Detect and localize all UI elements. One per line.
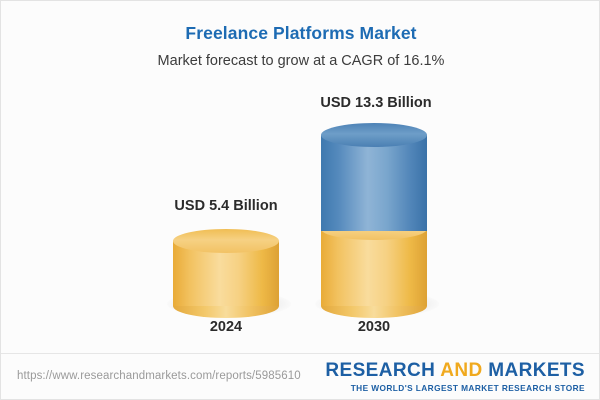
bar-chart: USD 5.4 Billion 2024 USD 13.3 Billion: [1, 1, 600, 353]
logo-wordmark: RESEARCH AND MARKETS: [325, 361, 585, 381]
cylinder-base-segment-2030: [321, 229, 427, 306]
bar-value-label-2024: USD 5.4 Billion: [116, 198, 336, 214]
logo-tagline: THE WORLD'S LARGEST MARKET RESEARCH STOR…: [325, 383, 585, 393]
logo-word-markets: MARKETS: [483, 360, 585, 381]
logo-word-and: AND: [440, 360, 482, 381]
bar-value-label-2030: USD 13.3 Billion: [266, 95, 486, 111]
bar-cylinder-2030: [321, 123, 427, 306]
footer-divider: [1, 353, 600, 354]
bar-cylinder-2024: [173, 229, 279, 306]
cylinder-growth-top-ellipse-2030: [321, 123, 427, 147]
research-and-markets-logo[interactable]: RESEARCH AND MARKETS THE WORLD'S LARGEST…: [325, 361, 585, 393]
cylinder-growth-segment-2030: [321, 135, 427, 231]
report-url[interactable]: https://www.researchandmarkets.com/repor…: [17, 370, 301, 382]
logo-word-research: RESEARCH: [325, 360, 440, 381]
cylinder-top-ellipse-2024: [173, 229, 279, 253]
market-forecast-infographic: Freelance Platforms Market Market foreca…: [0, 0, 600, 400]
bar-category-label-2030: 2030: [264, 319, 484, 335]
